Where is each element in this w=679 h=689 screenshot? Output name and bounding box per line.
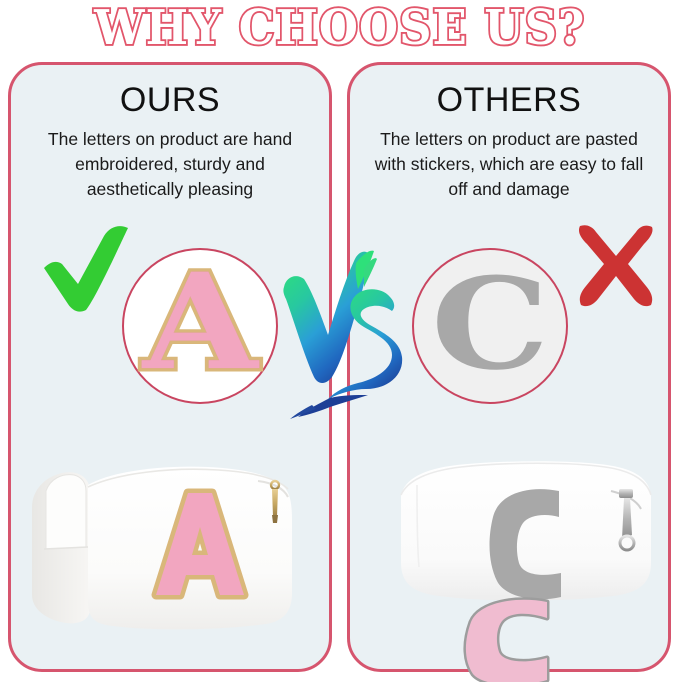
panel-heading-ours: OURS — [11, 81, 329, 120]
versus-icon — [272, 243, 410, 423]
x-icon — [572, 222, 660, 310]
panel-description-others: The letters on product are pasted with s… — [366, 127, 652, 202]
patch-letter-a: A — [143, 257, 258, 389]
page-title-bar: WHY CHOOSE US? — [0, 0, 679, 58]
patch-circle-others: C — [412, 248, 568, 404]
panel-heading-others: OTHERS — [350, 81, 668, 120]
panel-description-ours: The letters on product are hand embroide… — [27, 127, 313, 202]
patch-letter-c: C — [431, 261, 549, 387]
check-icon — [40, 222, 132, 314]
product-image-ours — [22, 443, 312, 643]
patch-circle-ours: A — [122, 248, 278, 404]
fallen-patch-c — [455, 596, 577, 682]
page-title: WHY CHOOSE US? — [94, 5, 585, 53]
